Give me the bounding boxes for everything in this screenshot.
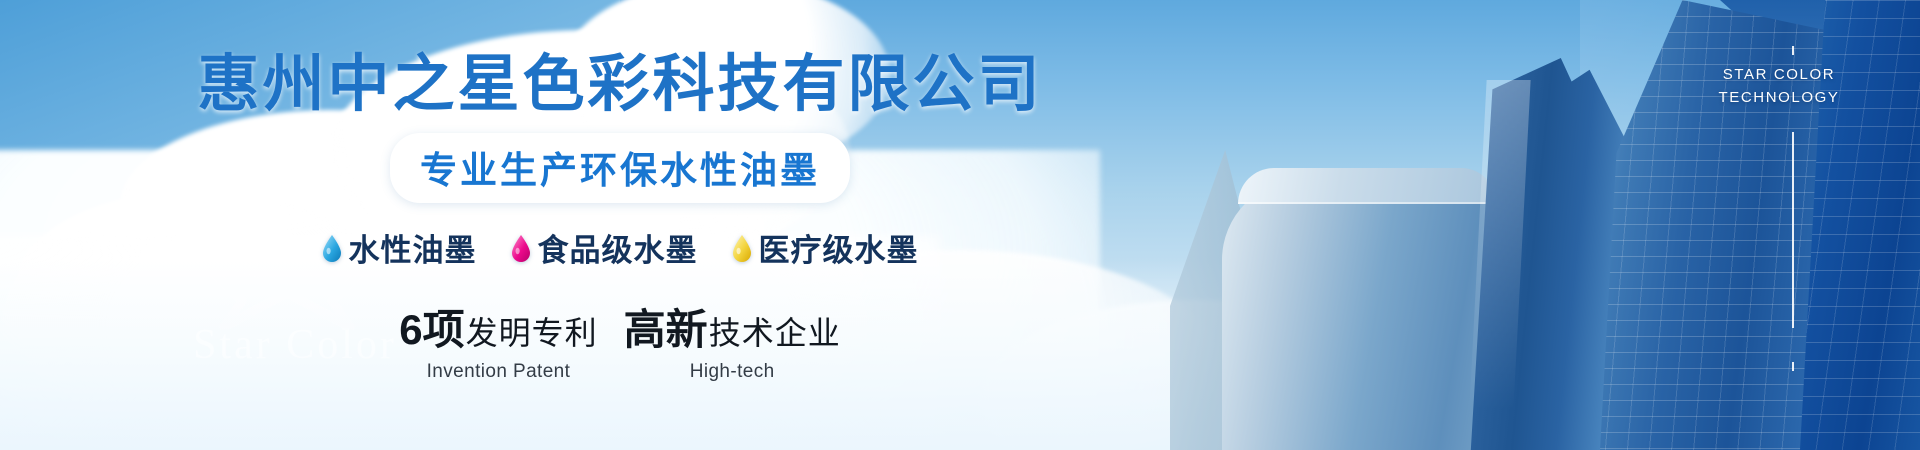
badge-chinese: 6项 发明专利 xyxy=(399,296,597,357)
water-drop-icon xyxy=(511,234,531,262)
badge-big-text: 高新 xyxy=(624,296,708,357)
banner-content: 惠州中之星色彩科技有限公司 专业生产环保水性油墨 水性油墨 xyxy=(0,0,1240,450)
ink-item-medical-grade: 医疗级水墨 xyxy=(732,225,919,270)
building-round-cap xyxy=(1238,168,1496,204)
badge-chinese: 高新 技术企业 xyxy=(624,296,841,357)
plate-tick-bottom xyxy=(1792,362,1794,371)
subtitle-text: 专业生产环保水性油墨 xyxy=(420,140,820,194)
hero-banner: Star Color STAR COLOR TECHNOLOGY 惠州中之星色彩… xyxy=(0,0,1920,450)
badge-english: Invention Patent xyxy=(399,361,597,383)
company-title: 惠州中之星色彩科技有限公司 xyxy=(197,52,1042,117)
credential-badges: 6项 发明专利 Invention Patent 高新 技术企业 High-te… xyxy=(399,296,840,383)
plate-line-1: STAR COLOR xyxy=(1694,64,1864,87)
water-drop-icon xyxy=(322,234,342,262)
badge-invention-patent: 6项 发明专利 Invention Patent xyxy=(399,296,597,383)
ink-type-list: 水性油墨 食品级水墨 xyxy=(322,225,919,270)
ink-label: 医疗级水墨 xyxy=(759,225,919,270)
badge-small-text: 发明专利 xyxy=(466,308,598,354)
badge-english: High-tech xyxy=(624,361,841,383)
ink-label: 食品级水墨 xyxy=(538,225,698,270)
plate-tick-line xyxy=(1792,132,1794,328)
badge-big-text: 6项 xyxy=(399,296,464,357)
ink-label: 水性油墨 xyxy=(349,225,477,270)
badge-small-text: 技术企业 xyxy=(709,308,841,354)
building-nameplate: STAR COLOR TECHNOLOGY xyxy=(1694,64,1864,109)
water-drop-icon xyxy=(732,234,752,262)
badge-high-tech: 高新 技术企业 High-tech xyxy=(624,296,841,383)
plate-tick-top xyxy=(1792,46,1794,55)
ink-item-food-grade: 食品级水墨 xyxy=(511,225,698,270)
subtitle-pill: 专业生产环保水性油墨 xyxy=(390,133,850,203)
ink-item-water-based: 水性油墨 xyxy=(322,225,477,270)
plate-line-2: TECHNOLOGY xyxy=(1694,87,1864,110)
